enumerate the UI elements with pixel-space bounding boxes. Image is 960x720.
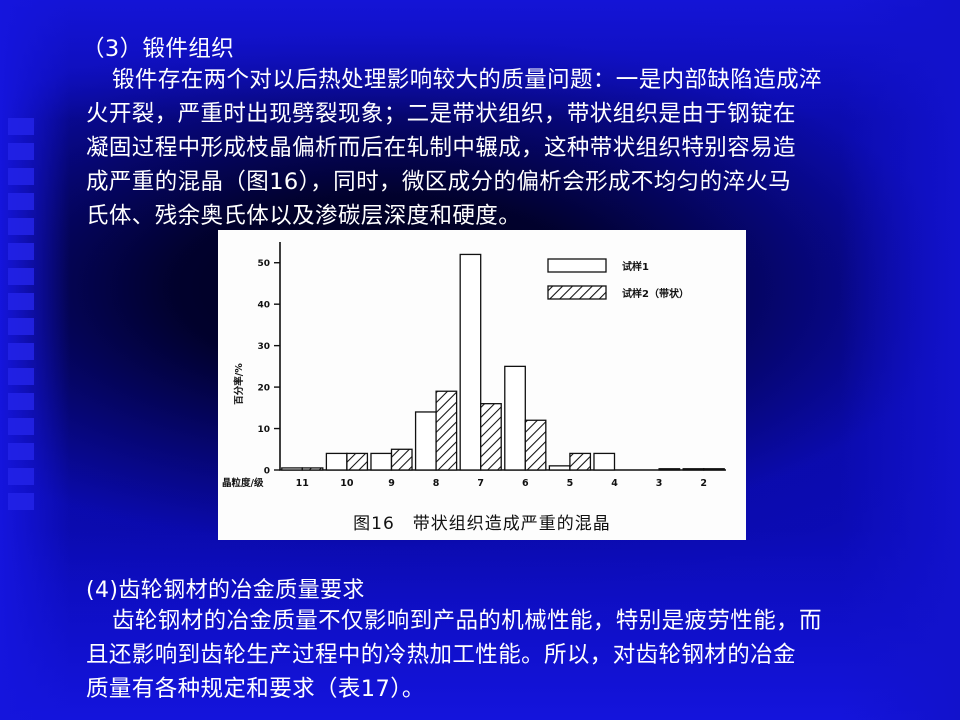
bar-series-2 xyxy=(302,468,323,470)
chart-axes xyxy=(280,242,726,470)
bar-series-1 xyxy=(282,468,303,470)
x-tick-label: 8 xyxy=(433,478,440,489)
decorative-square xyxy=(8,168,34,185)
decorative-square xyxy=(8,193,34,210)
bar-series-1 xyxy=(326,453,347,470)
y-tick-label: 50 xyxy=(257,259,270,269)
paragraph-line: 凝固过程中形成枝晶偏析而后在轧制中辗成，这种带状组织特别容易造 xyxy=(86,131,926,165)
x-tick-label: 10 xyxy=(340,478,354,489)
y-tick-label: 20 xyxy=(257,384,270,394)
y-tick-label: 30 xyxy=(257,342,270,352)
decorative-square xyxy=(8,368,34,385)
x-tick-label: 6 xyxy=(522,478,529,489)
chart-svg: 01020304050 111098765432 百分率/% 晶粒度/级 试样1… xyxy=(218,234,746,502)
decorative-square xyxy=(8,343,34,360)
section-heading-4: (4)齿轮钢材的冶金质量要求 xyxy=(86,572,365,604)
bar-series-1 xyxy=(416,412,437,470)
x-tick-label: 3 xyxy=(656,478,663,489)
y-tick-label: 0 xyxy=(264,467,270,477)
slide: （3）锻件组织 锻件存在两个对以后热处理影响较大的质量问题：一是内部缺陷造成淬火… xyxy=(0,0,960,720)
paragraph-line: 成严重的混晶（图16），同时，微区成分的偏析会形成不均匀的淬火马 xyxy=(86,165,926,199)
bar-series-2 xyxy=(481,404,502,470)
bar-series-2 xyxy=(659,469,680,470)
bar-series-1 xyxy=(505,366,526,470)
bar-series-2 xyxy=(392,449,413,470)
paragraph-line: 锻件存在两个对以后热处理影响较大的质量问题：一是内部缺陷造成淬 xyxy=(86,63,926,97)
decorative-square xyxy=(8,118,34,135)
bar-series-1 xyxy=(683,469,704,470)
bar-series-2 xyxy=(704,469,725,470)
paragraph-line: 氏体、残余奥氏体以及渗碳层深度和硬度。 xyxy=(86,199,926,233)
decorative-square xyxy=(8,393,34,410)
bar-series-1 xyxy=(549,466,570,470)
decorative-square xyxy=(8,268,34,285)
section-heading-3: （3）锻件组织 xyxy=(82,31,234,63)
y-tick-label: 10 xyxy=(257,425,270,435)
paragraph-line: 且还影响到齿轮生产过程中的冷热加工性能。所以，对齿轮钢材的冶金 xyxy=(86,638,926,672)
bar-series-1 xyxy=(460,254,481,470)
chart-x-axis-title: 晶粒度/级 xyxy=(222,477,264,489)
x-tick-label: 2 xyxy=(700,478,707,489)
x-tick-label: 7 xyxy=(477,478,484,489)
bar-series-2 xyxy=(570,453,591,470)
chart-x-axis-tick-labels: 111098765432 xyxy=(296,478,707,489)
decorative-square xyxy=(8,218,34,235)
x-tick-label: 11 xyxy=(296,478,309,489)
legend-label-series-2: 试样2（带状） xyxy=(622,287,689,300)
x-tick-label: 9 xyxy=(388,478,395,489)
chart-y-axis-title: 百分率/% xyxy=(233,363,245,405)
figure-caption: 图16 带状组织造成严重的混晶 xyxy=(218,509,746,534)
bar-series-2 xyxy=(436,391,457,470)
x-tick-label: 4 xyxy=(611,478,618,489)
paragraph-line: 齿轮钢材的冶金质量不仅影响到产品的机械性能，特别是疲劳性能，而 xyxy=(86,604,926,638)
y-tick-label: 40 xyxy=(257,301,270,311)
decorative-square xyxy=(8,443,34,460)
body-paragraph-top: 锻件存在两个对以后热处理影响较大的质量问题：一是内部缺陷造成淬火开裂，严重时出现… xyxy=(86,63,926,233)
bar-series-1 xyxy=(371,453,392,470)
decorative-square xyxy=(8,243,34,260)
chart: 01020304050 111098765432 百分率/% 晶粒度/级 试样1… xyxy=(218,234,746,502)
bar-series-1 xyxy=(594,453,615,470)
decorative-square xyxy=(8,418,34,435)
bar-series-2 xyxy=(525,420,546,470)
decorative-square xyxy=(8,493,34,510)
body-paragraph-bottom: 齿轮钢材的冶金质量不仅影响到产品的机械性能，特别是疲劳性能，而且还影响到齿轮生产… xyxy=(86,604,926,706)
decorative-square xyxy=(8,293,34,310)
figure-card: 01020304050 111098765432 百分率/% 晶粒度/级 试样1… xyxy=(218,230,746,540)
legend-swatch-series-1 xyxy=(548,259,606,272)
decorative-square xyxy=(8,468,34,485)
chart-y-axis-ticks: 01020304050 xyxy=(257,259,280,476)
decorative-square xyxy=(8,318,34,335)
bar-series-2 xyxy=(347,453,368,470)
legend-label-series-1: 试样1 xyxy=(622,260,649,273)
paragraph-line: 火开裂，严重时出现劈裂现象；二是带状组织，带状组织是由于钢锭在 xyxy=(86,97,926,131)
legend-swatch-series-2 xyxy=(548,286,606,299)
x-tick-label: 5 xyxy=(567,478,574,489)
decorative-square xyxy=(8,143,34,160)
chart-legend: 试样1 试样2（带状） xyxy=(548,259,689,300)
paragraph-line: 质量有各种规定和要求（表17）。 xyxy=(86,672,926,706)
decorative-square-strip xyxy=(8,118,34,510)
